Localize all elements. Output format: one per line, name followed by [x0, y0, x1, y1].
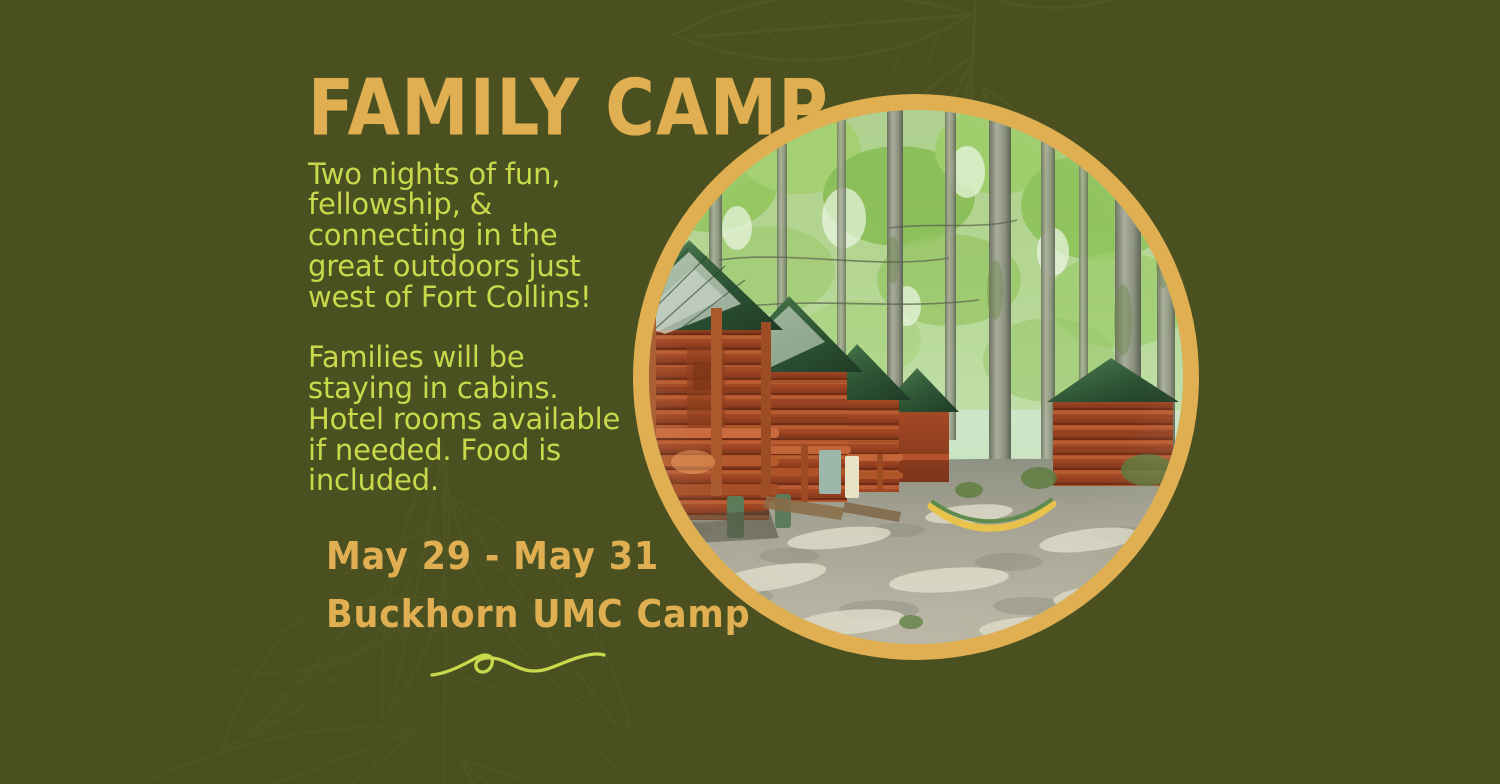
text-column: FAMILY CAMP Two nights of fun, fellowshi…: [308, 72, 638, 689]
event-details: May 29 - May 31 Buckhorn UMC Camp: [326, 538, 638, 689]
description-paragraph-2: Families will be staying in cabins. Hote…: [308, 342, 638, 496]
camp-cabins-photo: [649, 110, 1183, 644]
description-paragraph-1: Two nights of fun, fellowship, & connect…: [308, 159, 638, 313]
photo-ring-frame: [633, 94, 1199, 660]
event-dates: May 29 - May 31: [326, 538, 638, 577]
page-title: FAMILY CAMP: [308, 72, 635, 148]
event-location: Buckhorn UMC Camp: [326, 596, 638, 635]
squiggle-underline-icon: [428, 647, 608, 685]
family-camp-flyer: FAMILY CAMP Two nights of fun, fellowshi…: [0, 0, 1500, 784]
